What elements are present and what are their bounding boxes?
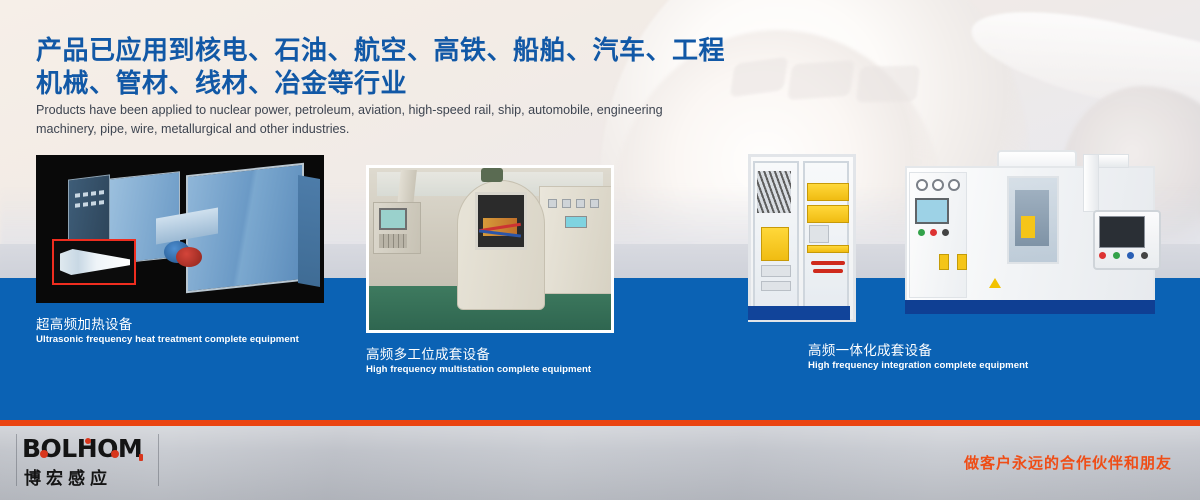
yellow-tag — [957, 254, 967, 270]
caption-en: High frequency multistation complete equ… — [366, 363, 591, 377]
exhaust-duct — [1083, 154, 1099, 212]
warning-triangle-icon — [989, 278, 1001, 288]
detail-highlight-box — [52, 239, 136, 285]
logo-dot-icon — [85, 438, 91, 444]
workpiece-detail — [60, 249, 130, 275]
cnc-screen — [1099, 216, 1145, 248]
induction-coil-red — [176, 247, 202, 267]
caption-en: Ultrasonic frequency heat treatment comp… — [36, 333, 299, 347]
high-frequency-integration-photo — [748, 148, 856, 326]
product-card-1-caption: 超高频加热设备 Ultrasonic frequency heat treatm… — [36, 316, 299, 347]
page-title: 产品已应用到核电、石油、航空、高铁、船舶、汽车、工程 机械、管材、线材、冶金等行… — [36, 34, 736, 100]
chimney-vent — [481, 168, 503, 182]
product-card-3[interactable]: 高频一体化成套设备 High frequency integration com… — [748, 148, 856, 326]
logo-cn-text: 博宏感应 — [24, 464, 112, 489]
keypad — [379, 234, 407, 248]
high-frequency-multistation-photo — [366, 165, 614, 333]
airplane-wing — [963, 0, 1200, 135]
logo-divider-left — [16, 434, 17, 486]
cabinet-display — [565, 216, 587, 228]
cabinet-base — [748, 306, 850, 320]
yellow-guard — [1021, 216, 1035, 238]
integration-machine-photo — [905, 150, 1190, 325]
hmi-screen — [915, 198, 949, 224]
integration-cabinet — [748, 154, 856, 322]
blue-cabinet-side — [298, 175, 320, 287]
ultrasonic-frequency-heat-treatment-photo — [36, 155, 324, 303]
logo-dot-icon — [40, 450, 48, 458]
caption-cn: 高频多工位成套设备 — [366, 346, 591, 363]
product-card-1[interactable] — [36, 155, 324, 303]
cockpit-window-icon — [787, 60, 855, 100]
logo-latin-text: BOLHOM — [22, 434, 142, 463]
caption-cn: 高频一体化成套设备 — [808, 342, 1108, 359]
caption-cn: 超高频加热设备 — [36, 316, 299, 333]
product-card-4[interactable] — [905, 150, 1190, 325]
machine-base — [905, 300, 1155, 314]
cockpit-window-icon — [730, 57, 788, 98]
product-card-2-caption: 高频多工位成套设备 High frequency multistation co… — [366, 346, 591, 377]
product-card-2[interactable] — [366, 165, 614, 333]
marketing-banner: 产品已应用到核电、石油、航空、高铁、船舶、汽车、工程 机械、管材、线材、冶金等行… — [0, 0, 1200, 500]
cockpit-window-icon — [856, 65, 921, 102]
yellow-tag — [939, 254, 949, 270]
power-cabinet — [539, 186, 614, 294]
caption-en: High frequency integration complete equi… — [808, 359, 1108, 373]
headline-line-1: 产品已应用到核电、石油、航空、高铁、船舶、汽车、工程 — [36, 35, 725, 65]
logo-accent-icon — [139, 454, 143, 461]
control-panel — [909, 172, 967, 298]
cnc-button-row — [1099, 252, 1151, 260]
page-subtitle: Products have been applied to nuclear po… — [36, 101, 726, 139]
company-logo[interactable]: BOLHOM 博宏感应 — [18, 434, 154, 486]
logo-divider-right — [158, 434, 159, 486]
logo-dot-icon — [111, 450, 119, 458]
footer-slogan: 做客户永远的合作伙伴和朋友 — [964, 452, 1172, 473]
product-card-3-caption: 高频一体化成套设备 High frequency integration com… — [808, 342, 1108, 373]
headline-line-2: 机械、管材、线材、冶金等行业 — [36, 67, 736, 100]
hmi-screen — [379, 208, 407, 230]
